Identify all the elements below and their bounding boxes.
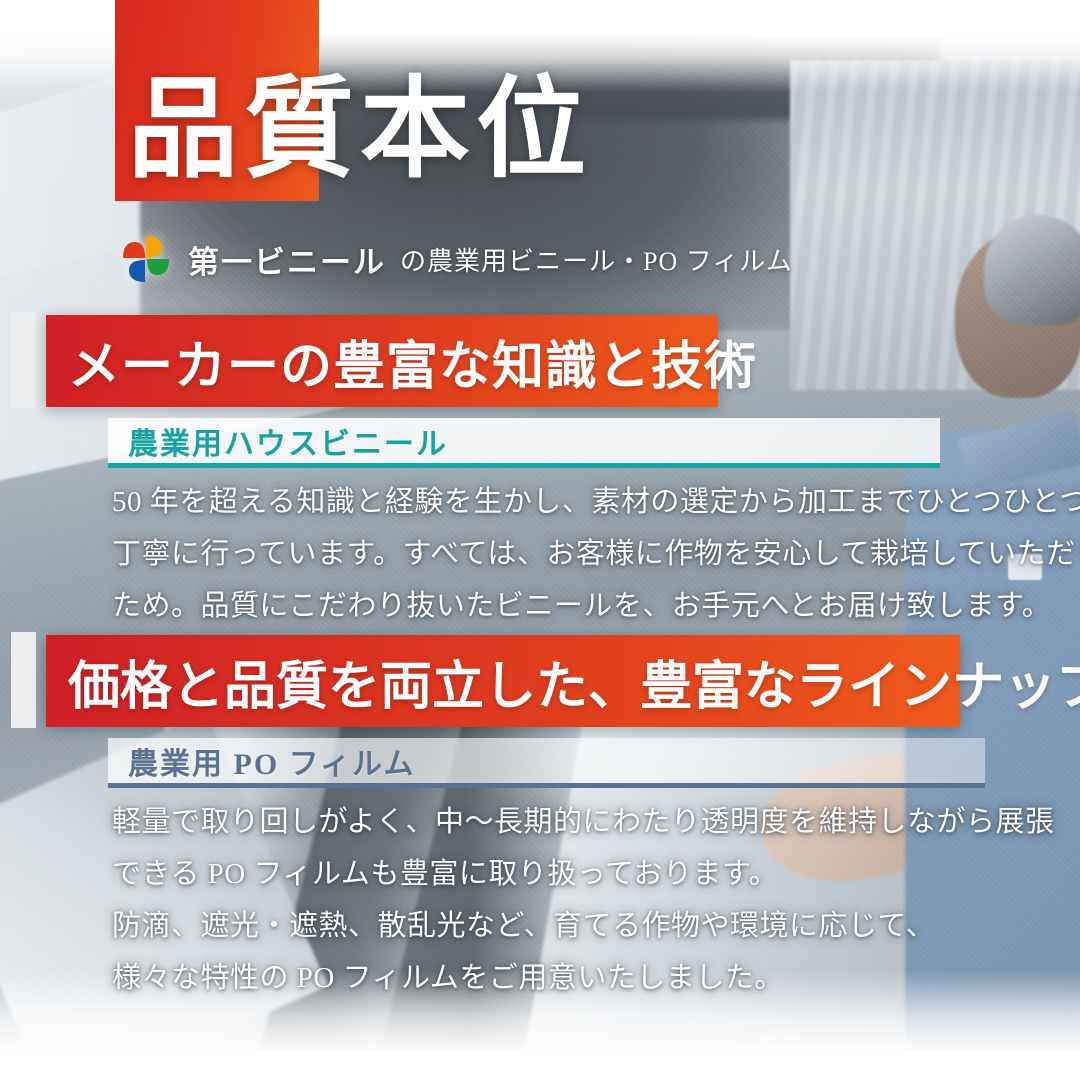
section-banner-2: 価格と品質を両立した、豊富なラインナップ <box>46 635 960 727</box>
section-2-paragraph: 軽量で取り回しがよく、中〜長期的にわたり透明度を維持しながら展張 できる PO … <box>112 796 992 1004</box>
brand-name: 第一ビニール <box>188 237 386 282</box>
paragraph-line: できる PO フィルムも豊富に取り扱っております。 <box>112 848 992 900</box>
section-banner-2-label: 価格と品質を両立した、豊富なラインナップ <box>46 644 1080 719</box>
paragraph-line: 軽量で取り回しがよく、中〜長期的にわたり透明度を維持しながら展張 <box>112 796 992 848</box>
subheading-band-1: 農業用ハウスビニール <box>108 418 940 468</box>
paragraph-line: 防滴、遮光・遮熱、散乱光など、育てる作物や環境に応じて、 <box>112 900 992 952</box>
section-banner-1: メーカーの豊富な知識と技術 <box>46 315 718 407</box>
dainichi-flower-logo-icon <box>118 231 174 287</box>
paragraph-line: ため。品質にこだわり抜いたビニールを、お手元へとお届け致します。 <box>112 580 992 632</box>
subheading-band-2: 農業用 PO フィルム <box>108 738 985 788</box>
section-tick-bar-1 <box>11 312 36 408</box>
paragraph-line: 丁寧に行っています。すべては、お客様に作物を安心して栽培していただく <box>112 528 992 580</box>
subheading-1-label: 農業用ハウスビニール <box>108 419 448 463</box>
paragraph-line: 様々な特性の PO フィルムをご用意いたしました。 <box>112 952 992 1004</box>
section-tick-bar-2 <box>11 632 36 728</box>
section-1-paragraph: 50 年を超える知識と経験を生かし、素材の選定から加工までひとつひとつ 丁寧に行… <box>112 476 992 632</box>
paragraph-line: 50 年を超える知識と経験を生かし、素材の選定から加工までひとつひとつ <box>112 476 992 528</box>
brand-row: 第一ビニール の農業用ビニール・PO フィルム <box>118 228 793 290</box>
section-banner-1-label: メーカーの豊富な知識と技術 <box>46 324 757 399</box>
page-title: 品質本位 <box>128 72 728 189</box>
subheading-2-label: 農業用 PO フィルム <box>108 739 415 783</box>
brand-tagline: の農業用ビニール・PO フィルム <box>400 241 793 278</box>
